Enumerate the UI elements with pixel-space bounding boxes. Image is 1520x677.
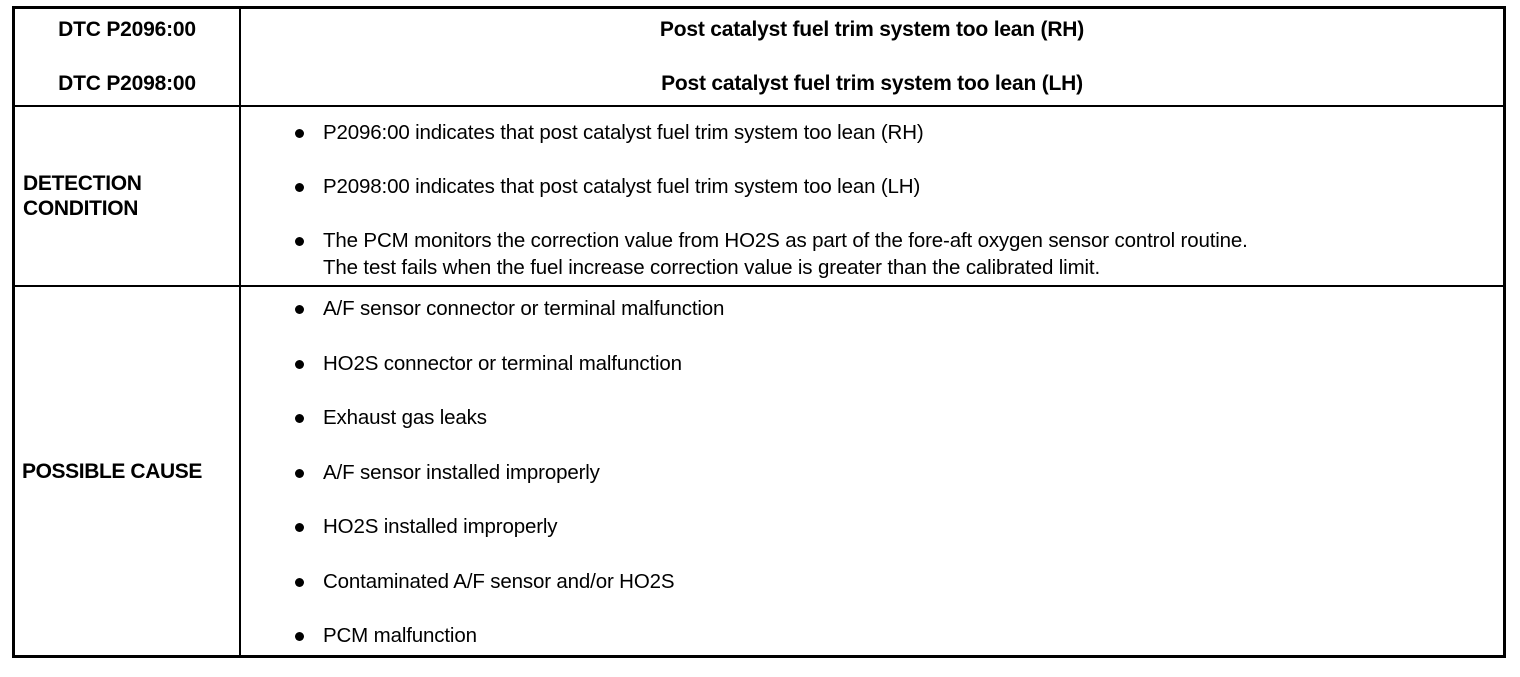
bullet-dot-icon xyxy=(295,632,304,641)
list-item-text: Exhaust gas leaks xyxy=(323,404,1503,431)
bullet-dot-icon xyxy=(295,237,304,246)
dtc-description-lh: Post catalyst fuel trim system too lean … xyxy=(661,72,1083,96)
dtc-description-rh: Post catalyst fuel trim system too lean … xyxy=(660,18,1084,42)
bullet-dot-icon xyxy=(295,183,304,192)
bullet-dot-icon xyxy=(295,129,304,138)
list-item-text: HO2S installed improperly xyxy=(323,513,1503,540)
list-item-text: P2096:00 indicates that post catalyst fu… xyxy=(323,119,1503,146)
dtc-code-p2098: DTC P2098:00 xyxy=(58,72,196,96)
list-item: A/F sensor installed improperly xyxy=(241,459,1503,486)
bullet-dot-icon xyxy=(295,305,304,314)
bullet-dot-icon xyxy=(295,578,304,587)
bullet-dot-icon xyxy=(295,360,304,369)
list-item: Contaminated A/F sensor and/or HO2S xyxy=(241,568,1503,595)
possible-cause-content-cell: A/F sensor connector or terminal malfunc… xyxy=(241,287,1503,655)
detection-condition-label-cell: DETECTION CONDITION xyxy=(15,107,241,285)
detection-condition-bullet-list: P2096:00 indicates that post catalyst fu… xyxy=(241,119,1503,308)
possible-cause-bullet-list: A/F sensor connector or terminal malfunc… xyxy=(241,295,1503,677)
dtc-code-p2096: DTC P2096:00 xyxy=(58,18,196,42)
dtc-information-table: DTC P2096:00 DTC P2098:00 Post catalyst … xyxy=(12,6,1506,658)
detection-condition-label: DETECTION CONDITION xyxy=(15,171,142,221)
list-item-text: HO2S connector or terminal malfunction xyxy=(323,350,1503,377)
bullet-dot-icon xyxy=(295,523,304,532)
dtc-code-list: DTC P2096:00 DTC P2098:00 xyxy=(15,18,239,96)
dtc-code-cell: DTC P2096:00 DTC P2098:00 xyxy=(15,9,241,105)
table-header-row: DTC P2096:00 DTC P2098:00 Post catalyst … xyxy=(15,9,1503,107)
dtc-description-cell: Post catalyst fuel trim system too lean … xyxy=(241,9,1503,105)
list-item-text: PCM malfunction xyxy=(323,622,1503,649)
bullet-dot-icon xyxy=(295,469,304,478)
list-item-text: A/F sensor connector or terminal malfunc… xyxy=(323,295,1503,322)
list-item-text: Contaminated A/F sensor and/or HO2S xyxy=(323,568,1503,595)
list-item-text: The PCM monitors the correction value fr… xyxy=(323,227,1503,281)
list-item: A/F sensor connector or terminal malfunc… xyxy=(241,295,1503,322)
bullet-dot-icon xyxy=(295,414,304,423)
list-item-text: P2098:00 indicates that post catalyst fu… xyxy=(323,173,1503,200)
list-item: PCM malfunction xyxy=(241,622,1503,649)
detection-condition-label-line2: CONDITION xyxy=(23,196,142,221)
possible-cause-label-cell: POSSIBLE CAUSE xyxy=(15,287,241,655)
list-item: Exhaust gas leaks xyxy=(241,404,1503,431)
detection-condition-row: DETECTION CONDITION P2096:00 indicates t… xyxy=(15,107,1503,287)
dtc-description-list: Post catalyst fuel trim system too lean … xyxy=(241,9,1503,105)
list-item: HO2S installed improperly xyxy=(241,513,1503,540)
list-item: HO2S connector or terminal malfunction xyxy=(241,350,1503,377)
list-item: P2096:00 indicates that post catalyst fu… xyxy=(241,119,1503,146)
detection-condition-content-cell: P2096:00 indicates that post catalyst fu… xyxy=(241,107,1503,285)
list-item: P2098:00 indicates that post catalyst fu… xyxy=(241,173,1503,200)
possible-cause-label: POSSIBLE CAUSE xyxy=(15,459,202,484)
detection-condition-label-line1: DETECTION xyxy=(23,171,142,196)
list-item-text: A/F sensor installed improperly xyxy=(323,459,1503,486)
possible-cause-row: POSSIBLE CAUSE A/F sensor connector or t… xyxy=(15,287,1503,655)
list-item: The PCM monitors the correction value fr… xyxy=(241,227,1503,281)
